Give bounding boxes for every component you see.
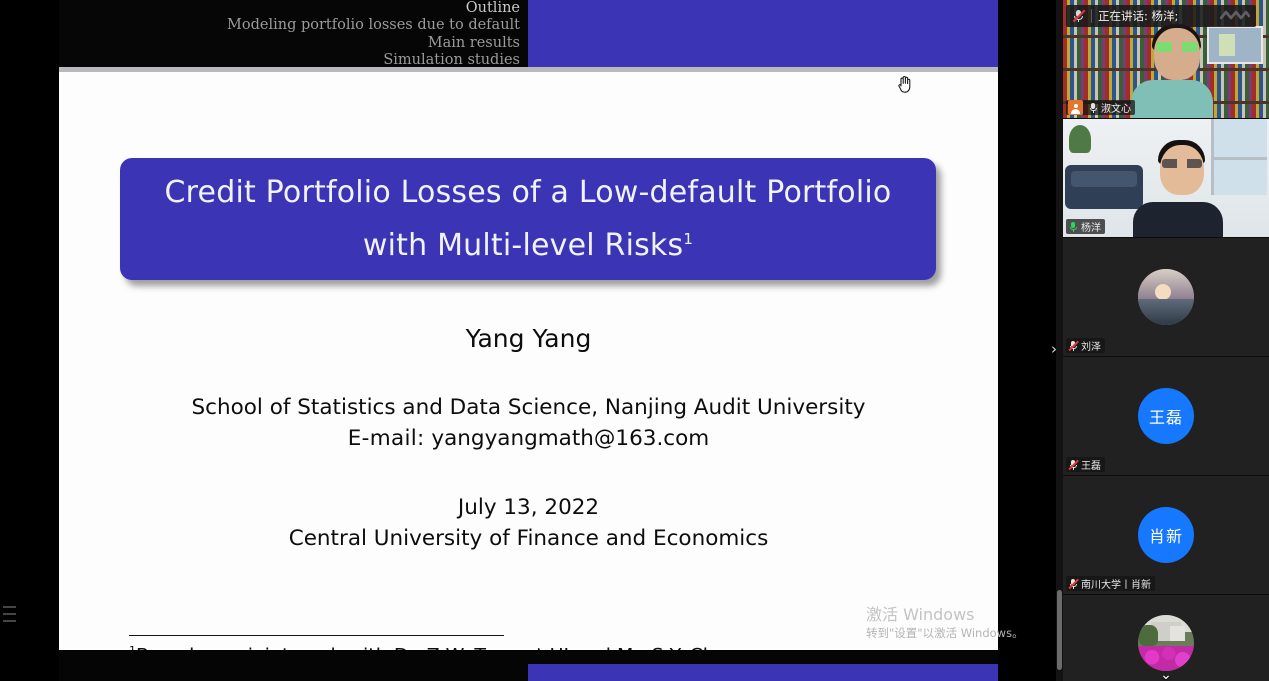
participant-name: 淑文心 (1101, 100, 1131, 115)
slide-email-label: E-mail: (348, 426, 425, 451)
zoom-meeting-window: Outline Modeling portfolio losses due to… (0, 0, 1269, 681)
filmstrip-scrollbar[interactable] (1056, 0, 1063, 681)
hamburger-menu-icon[interactable] (3, 606, 17, 622)
mic-muted-icon (1068, 459, 1078, 471)
mic-muted-icon (1072, 9, 1085, 23)
mic-muted-icon (1088, 102, 1098, 114)
participant-name: 杨洋 (1081, 219, 1101, 234)
participant-tile[interactable]: 刘泽 (1063, 238, 1269, 357)
hand-cursor (896, 74, 916, 96)
slide-title-line-1: Credit Portfolio Losses of a Low-default… (165, 169, 892, 216)
beamer-nav-modeling[interactable]: Modeling portfolio losses due to default (59, 17, 520, 34)
participant-name: 王磊 (1081, 457, 1101, 472)
slide-email-line: E-mail: yangyangmath@163.com (59, 423, 998, 454)
zoom-logo-icon (1220, 10, 1250, 22)
active-speaker-banner: 正在讲话: 杨洋; (1066, 5, 1256, 27)
footnote-divider (129, 635, 504, 636)
beamer-header-nav: Outline Modeling portfolio losses due to… (59, 0, 528, 70)
slide-affiliation-block: School of Statistics and Data Science, N… (59, 392, 998, 454)
host-icon (1068, 100, 1083, 115)
participant-name-badge: 南川大学丨肖新 (1066, 576, 1155, 591)
slide-title-line-2: with Multi-level Risks1 (363, 216, 693, 269)
participant-name-badge: 淑文心 (1066, 100, 1135, 115)
participant-avatar-photo (1138, 615, 1194, 671)
participant-tile[interactable]: 杨洋 (1063, 119, 1269, 238)
active-speaker-label: 正在讲话: 杨洋; (1098, 8, 1178, 24)
slide-title-line-2-text: with Multi-level Risks (363, 228, 683, 263)
participant-tile[interactable]: ⌄ (1063, 595, 1269, 681)
participant-avatar-photo (1138, 269, 1194, 325)
slide-affiliation: School of Statistics and Data Science, N… (59, 392, 998, 423)
participant-name: 刘泽 (1081, 338, 1101, 353)
slide-bottom-band (59, 650, 998, 664)
beamer-header-accent-bar (528, 0, 998, 70)
participant-avatar-initials: 王磊 (1138, 388, 1194, 444)
slide-title-plate: Credit Portfolio Losses of a Low-default… (120, 158, 936, 280)
slide-email-value: yangyangmath@163.com (431, 426, 709, 451)
participant-name-badge: 王磊 (1066, 457, 1105, 472)
slide-venue: Central University of Finance and Econom… (59, 523, 998, 554)
filmstrip-scrollbar-thumb[interactable] (1057, 590, 1062, 670)
participant-name: 南川大学丨肖新 (1081, 576, 1151, 591)
participant-name-badge: 杨洋 (1066, 219, 1105, 234)
participant-tile[interactable]: 正在讲话: 杨洋; 淑文心 (1063, 0, 1269, 119)
beamer-footer-dark (59, 664, 528, 681)
participant-tile[interactable]: 王磊 王磊 (1063, 357, 1269, 476)
beamer-nav-main-results[interactable]: Main results (59, 35, 520, 52)
participant-name-badge: 刘泽 (1066, 338, 1105, 353)
presentation-slide: Credit Portfolio Losses of a Low-default… (59, 72, 998, 650)
slide-title-footnote-marker: 1 (683, 230, 693, 248)
screen-share-region[interactable]: Outline Modeling portfolio losses due to… (0, 0, 1063, 681)
mic-active-icon (1068, 221, 1078, 233)
mic-muted-icon (1068, 578, 1078, 590)
chevron-down-icon[interactable]: ⌄ (1160, 668, 1172, 681)
slide-author: Yang Yang (59, 324, 998, 353)
beamer-nav-outline[interactable]: Outline (59, 0, 520, 17)
slide-date: July 13, 2022 (59, 492, 998, 523)
participant-filmstrip[interactable]: 正在讲话: 杨洋; 淑文心 (1063, 0, 1269, 681)
participant-tile[interactable]: 肖新 南川大学丨肖新 (1063, 476, 1269, 595)
beamer-footer-accent (528, 664, 998, 681)
mic-muted-icon (1068, 340, 1078, 352)
participant-avatar-initials: 肖新 (1138, 507, 1194, 563)
slide-date-block: July 13, 2022 Central University of Fina… (59, 492, 998, 554)
